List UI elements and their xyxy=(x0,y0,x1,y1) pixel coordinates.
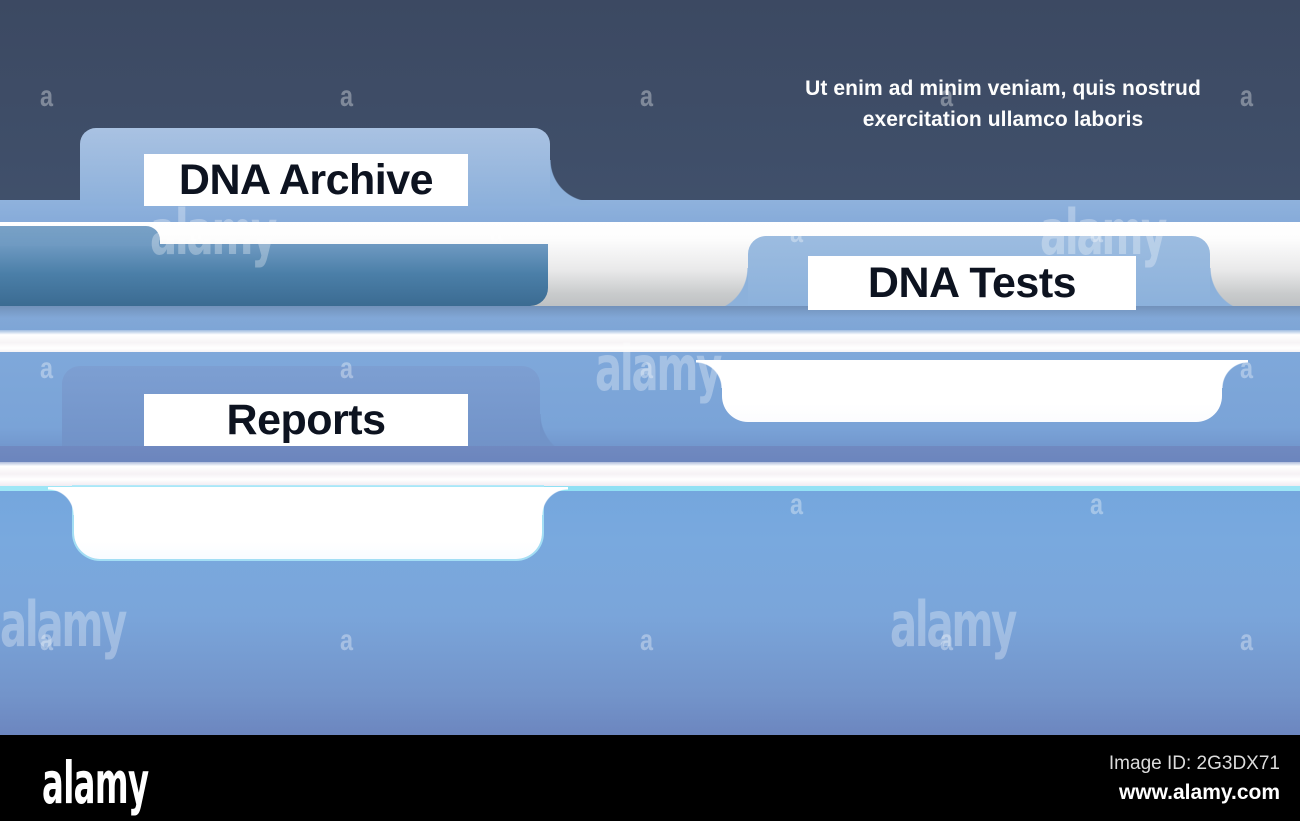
screenshot-root: DNA Archive DNA Tests Reports Ut enim ad… xyxy=(0,0,1300,821)
tab-label-plate-reports[interactable]: Reports xyxy=(144,394,468,446)
row2-left-drawer xyxy=(0,244,548,306)
alamy-logo: alamy xyxy=(42,749,148,817)
tab-label-reports: Reports xyxy=(227,396,386,445)
alamy-footer-bar: alamy Image ID: 2G3DX71 www.alamy.com xyxy=(0,735,1300,821)
tab-label-dna-archive: DNA Archive xyxy=(179,156,433,205)
footer-image-id: Image ID: 2G3DX71 xyxy=(1109,753,1280,775)
tab-label-dna-tests: DNA Tests xyxy=(868,259,1076,308)
footer-website-url[interactable]: www.alamy.com xyxy=(1119,781,1280,805)
folder-tabs-illustration: DNA Archive DNA Tests Reports Ut enim ad… xyxy=(0,0,1300,735)
tab-label-plate-dna-archive[interactable]: DNA Archive xyxy=(144,154,468,206)
header-caption: Ut enim ad minim veniam, quis nostrud ex… xyxy=(788,74,1218,136)
tab-label-plate-dna-tests[interactable]: DNA Tests xyxy=(808,256,1136,310)
tab-blank-row4-selected[interactable] xyxy=(74,487,542,559)
tab-blank-row3[interactable] xyxy=(722,360,1222,422)
